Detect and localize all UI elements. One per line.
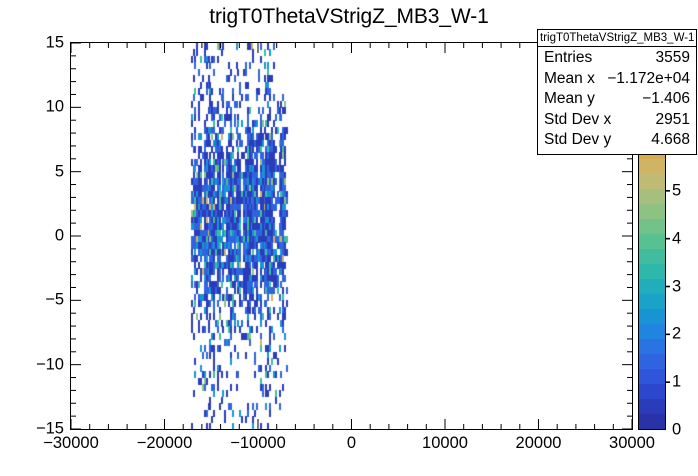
- statistics-rows: Entries3559Mean x−1.172e+04Mean y−1.406S…: [538, 47, 696, 154]
- page-title: trigT0ThetaVStrigZ_MB3_W-1: [0, 5, 698, 29]
- statistics-key: Std Dev y: [544, 130, 619, 151]
- x-axis-tick-label: 30000: [609, 434, 655, 453]
- palette-tick-label: 3: [672, 277, 681, 296]
- statistics-key: Mean y: [544, 89, 603, 110]
- statistics-key: Entries: [544, 48, 600, 69]
- y-axis-tick-label: 15: [6, 34, 64, 53]
- statistics-value: −1.406: [642, 89, 690, 110]
- statistics-value: 2951: [656, 110, 690, 131]
- x-axis-tick-label: −10000: [230, 434, 286, 453]
- statistics-row: Std Dev x2951: [544, 110, 690, 131]
- y-axis-tick-label: −10: [6, 355, 64, 374]
- palette-color-cell: [639, 339, 665, 354]
- palette-color-cell: [639, 219, 665, 234]
- palette-tick-label: 4: [672, 229, 681, 248]
- statistics-row: Mean x−1.172e+04: [544, 69, 690, 90]
- palette-tick-label: 2: [672, 325, 681, 344]
- x-axis-tick-label: 20000: [516, 434, 562, 453]
- palette-color-cell: [639, 279, 665, 294]
- statistics-value: −1.172e+04: [607, 69, 690, 90]
- palette-color-cell: [639, 369, 665, 384]
- y-axis-tick-label: 0: [6, 227, 64, 246]
- statistics-key: Mean x: [544, 69, 603, 90]
- statistics-value: 3559: [656, 48, 690, 69]
- statistics-row: Std Dev y4.668: [544, 130, 690, 151]
- palette-color-cell: [639, 354, 665, 369]
- palette-tick-label: 1: [672, 373, 681, 392]
- palette-color-cell: [639, 159, 665, 174]
- y-axis-tick-label: −5: [6, 291, 64, 310]
- statistics-title: trigT0ThetaVStrigZ_MB3_W-1: [538, 30, 696, 47]
- y-axis-tick-label: 10: [6, 98, 64, 117]
- palette-color-cell: [639, 324, 665, 339]
- x-axis-tick-label: 10000: [422, 434, 468, 453]
- palette-color-cell: [639, 204, 665, 219]
- statistics-value: 4.668: [651, 130, 690, 151]
- y-axis-tick-label: −15: [6, 420, 64, 439]
- color-palette-bar: [638, 143, 666, 430]
- statistics-key: Std Dev x: [544, 110, 619, 131]
- palette-color-cell: [639, 249, 665, 264]
- root-canvas: trigT0ThetaVStrigZ_MB3_W-1 −30000−20000−…: [0, 0, 698, 476]
- palette-color-cell: [639, 189, 665, 204]
- palette-color-cell: [639, 294, 665, 309]
- x-axis-tick-label: −20000: [137, 434, 193, 453]
- palette-color-cell: [639, 174, 665, 189]
- palette-tick-label: 0: [672, 421, 681, 440]
- statistics-row: Entries3559: [544, 48, 690, 69]
- palette-color-cell: [639, 309, 665, 324]
- palette-color-cell: [639, 414, 665, 429]
- palette-tick-label: 5: [672, 181, 681, 200]
- palette-color-cell: [639, 264, 665, 279]
- statistics-box: trigT0ThetaVStrigZ_MB3_W-1 Entries3559Me…: [537, 29, 697, 155]
- statistics-row: Mean y−1.406: [544, 89, 690, 110]
- palette-color-cell: [639, 399, 665, 414]
- y-axis-tick-label: 5: [6, 162, 64, 181]
- palette-color-cell: [639, 384, 665, 399]
- x-axis-tick-label: 0: [347, 434, 356, 453]
- palette-color-cell: [639, 234, 665, 249]
